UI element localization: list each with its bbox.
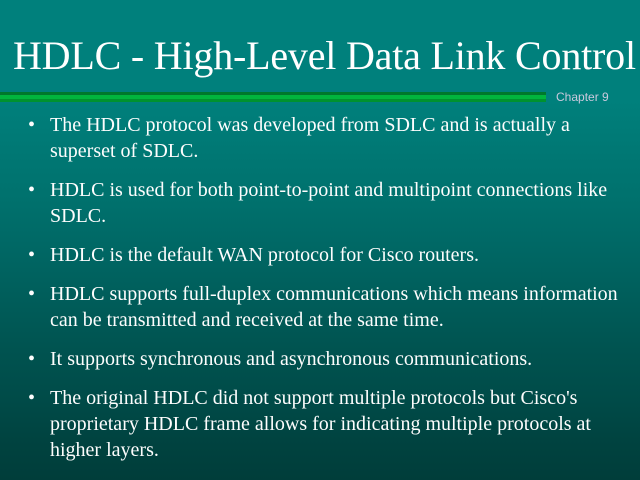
- bullet-dot-icon: •: [28, 177, 40, 203]
- list-item: • HDLC is used for both point-to-point a…: [0, 177, 640, 229]
- list-item-text: The original HDLC did not support multip…: [50, 385, 622, 463]
- list-item: • The HDLC protocol was developed from S…: [0, 112, 640, 164]
- bullet-dot-icon: •: [28, 242, 40, 268]
- list-item-text: HDLC supports full-duplex communications…: [50, 281, 622, 333]
- rule-bottom-band: [0, 99, 546, 102]
- list-item: • HDLC supports full-duplex communicatio…: [0, 281, 640, 333]
- bullet-dot-icon: •: [28, 385, 40, 411]
- list-item: • HDLC is the default WAN protocol for C…: [0, 242, 640, 268]
- title-underline-rule: [0, 92, 546, 102]
- bullet-dot-icon: •: [28, 281, 40, 307]
- list-item: • The original HDLC did not support mult…: [0, 385, 640, 463]
- list-item-text: HDLC is used for both point-to-point and…: [50, 177, 622, 229]
- bullet-dot-icon: •: [28, 346, 40, 372]
- bullet-dot-icon: •: [28, 112, 40, 138]
- list-item-text: It supports synchronous and asynchronous…: [50, 346, 622, 372]
- slide-canvas: HDLC - High-Level Data Link Control Chap…: [0, 0, 640, 480]
- list-item-text: HDLC is the default WAN protocol for Cis…: [50, 242, 622, 268]
- list-item-text: The HDLC protocol was developed from SDL…: [50, 112, 622, 164]
- bullet-list: • The HDLC protocol was developed from S…: [0, 112, 640, 476]
- chapter-label: Chapter 9: [556, 90, 609, 105]
- slide-title-area: HDLC - High-Level Data Link Control: [0, 0, 640, 90]
- list-item: • It supports synchronous and asynchrono…: [0, 346, 640, 372]
- page-title: HDLC - High-Level Data Link Control: [13, 33, 633, 79]
